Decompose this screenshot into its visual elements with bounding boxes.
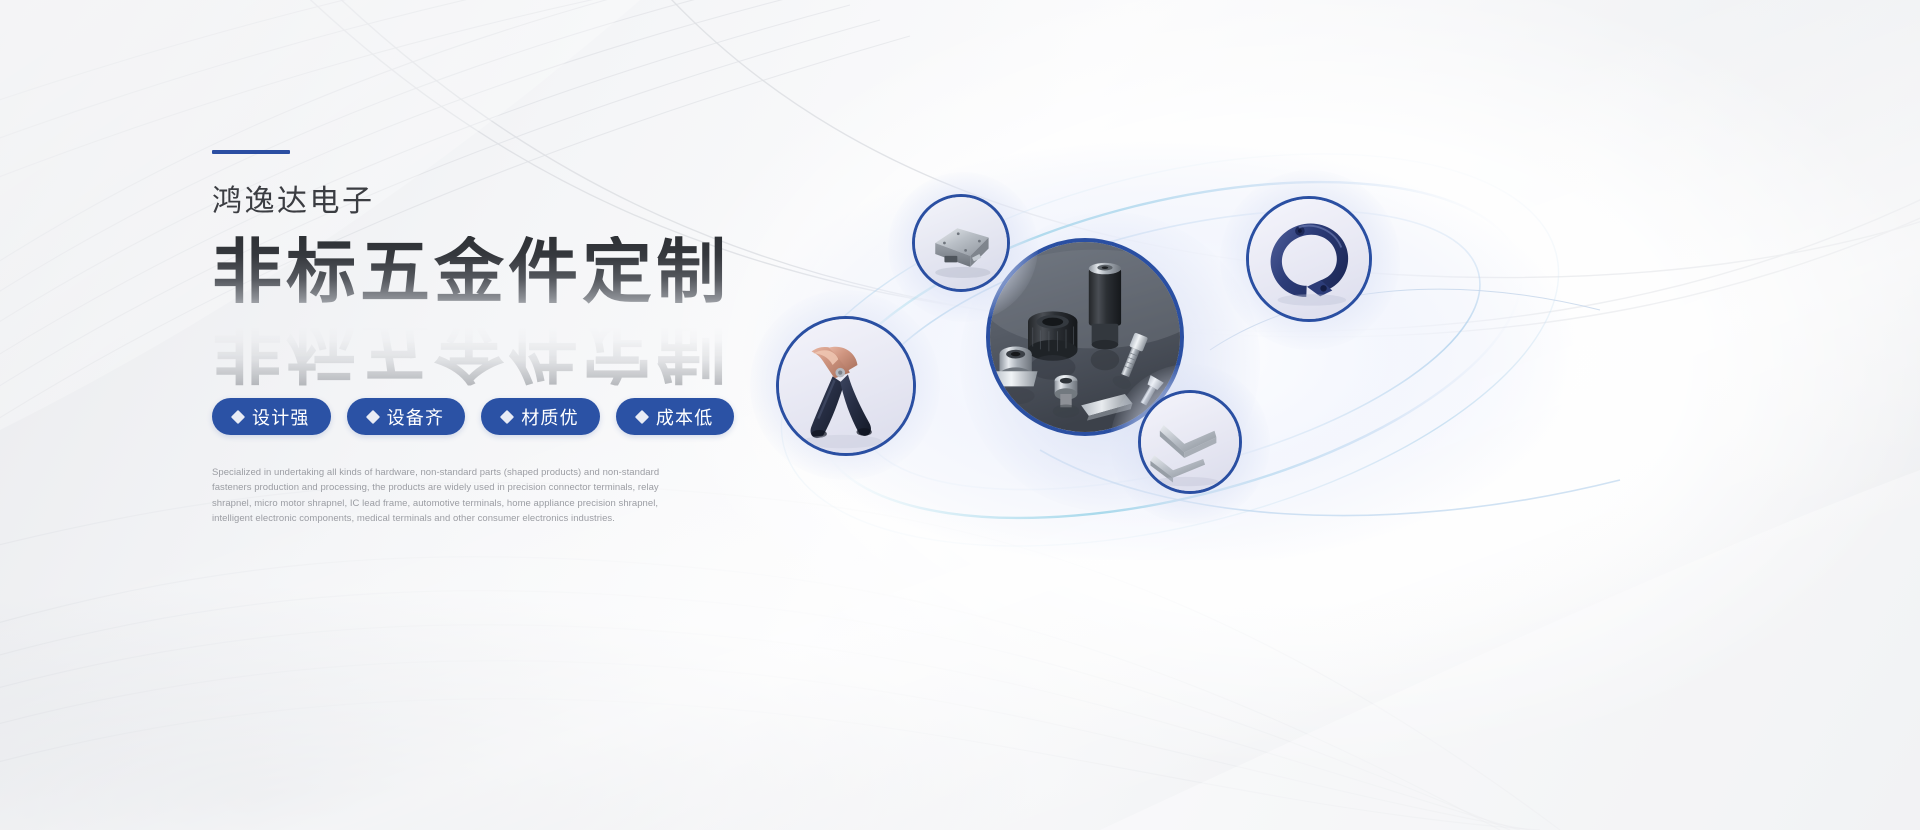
metal-enclosure-product <box>915 197 1007 289</box>
feature-pill-cost[interactable]: 成本低 <box>616 398 735 435</box>
headline-reflection: 非标五金件定制 <box>212 312 730 386</box>
description-paragraph: Specialized in undertaking all kinds of … <box>212 465 677 527</box>
feature-pill-design[interactable]: 设计强 <box>212 398 331 435</box>
retaining-clip-product <box>1249 199 1369 319</box>
diamond-icon <box>366 409 380 423</box>
diamond-icon <box>231 409 245 423</box>
hero-banner: 鸿逸达电子 非标五金件定制 非标五金件定制 设计强 设备齐 材质优 成本低 <box>0 0 1920 830</box>
diamond-icon <box>500 409 514 423</box>
accent-bar <box>212 150 290 154</box>
feature-pill-label: 成本低 <box>656 404 714 430</box>
metal-enclosure-bubble[interactable] <box>912 194 1010 292</box>
retaining-clip-bubble[interactable] <box>1246 196 1372 322</box>
feature-pill-label: 设计强 <box>252 404 310 430</box>
feature-pill-material[interactable]: 材质优 <box>481 398 600 435</box>
bent-bracket-product <box>1141 393 1239 491</box>
copper-clamp-product <box>779 319 913 453</box>
product-visual <box>740 120 1820 560</box>
copper-clamp-bubble[interactable] <box>776 316 916 456</box>
feature-pill-label: 设备齐 <box>387 404 445 430</box>
feature-pill-equipment[interactable]: 设备齐 <box>347 398 466 435</box>
bent-bracket-bubble[interactable] <box>1138 390 1242 494</box>
diamond-icon <box>635 409 649 423</box>
feature-pill-label: 材质优 <box>521 404 579 430</box>
